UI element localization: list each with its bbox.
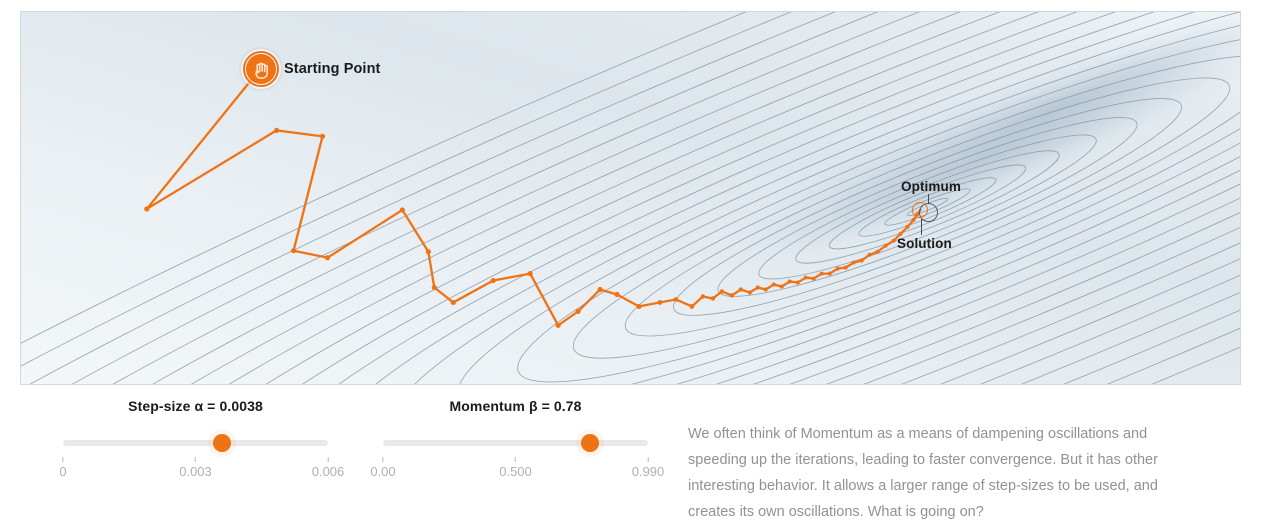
- solution-marker: [912, 202, 928, 218]
- step-size-tick: 0.006: [312, 457, 345, 479]
- momentum-tick: 0.500: [499, 457, 532, 479]
- momentum-tick: 0.990: [632, 457, 665, 479]
- step-size-slider-block: Step-size α = 0.0038 00.0030.006: [53, 398, 338, 487]
- step-size-ticks: 00.0030.006: [63, 457, 328, 487]
- step-size-tick-label: 0: [59, 464, 66, 479]
- step-size-slider[interactable]: [63, 436, 328, 450]
- step-size-track[interactable]: [63, 440, 328, 446]
- step-size-tick-mark: [195, 457, 196, 462]
- optimum-label: Optimum: [901, 179, 961, 194]
- description-text: We often think of Momentum as a means of…: [688, 421, 1208, 525]
- step-size-tick-mark: [62, 457, 63, 462]
- momentum-tick-mark: [647, 457, 648, 462]
- momentum-tick-label: 0.500: [499, 464, 532, 479]
- step-size-handle[interactable]: [213, 434, 231, 452]
- step-size-tick-mark: [327, 457, 328, 462]
- momentum-tick-label: 0.990: [632, 464, 665, 479]
- momentum-slider[interactable]: [383, 436, 648, 450]
- starting-point-marker[interactable]: [241, 49, 281, 89]
- momentum-label: Momentum β = 0.78: [373, 398, 658, 414]
- momentum-ticks: 0.000.5000.990: [383, 457, 648, 487]
- step-size-tick: 0.003: [179, 457, 212, 479]
- grab-hand-cursor-icon: [246, 54, 276, 84]
- momentum-tick-label: 0.00: [370, 464, 395, 479]
- momentum-track[interactable]: [383, 440, 648, 446]
- step-size-tick-label: 0.003: [179, 464, 212, 479]
- momentum-slider-block: Momentum β = 0.78 0.000.5000.990: [373, 398, 658, 487]
- solution-leader-line: [921, 219, 922, 235]
- momentum-tick-mark: [515, 457, 516, 462]
- contour-plot-panel[interactable]: [20, 11, 1241, 385]
- optimum-leader-line: [928, 194, 929, 204]
- controls-row: Step-size α = 0.0038 00.0030.006 Momentu…: [0, 398, 1262, 513]
- step-size-label: Step-size α = 0.0038: [53, 398, 338, 414]
- momentum-tick: 0.00: [370, 457, 395, 479]
- step-size-tick: 0: [59, 457, 66, 479]
- momentum-tick-mark: [383, 457, 384, 462]
- contour-plot-svg: [21, 12, 1240, 384]
- solution-label: Solution: [897, 236, 952, 251]
- starting-point-label: Starting Point: [284, 61, 380, 77]
- momentum-handle[interactable]: [581, 434, 599, 452]
- step-size-tick-label: 0.006: [312, 464, 345, 479]
